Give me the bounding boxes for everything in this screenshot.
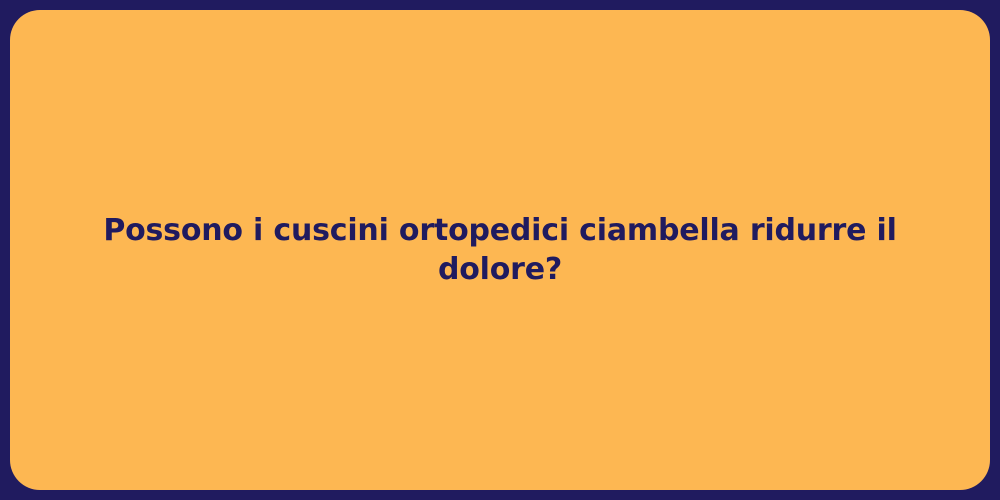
page-title: Possono i cuscini ortopedici ciambella r… [70, 211, 930, 289]
banner-frame: Possono i cuscini ortopedici ciambella r… [0, 0, 1000, 500]
headline-card: Possono i cuscini ortopedici ciambella r… [10, 10, 990, 490]
